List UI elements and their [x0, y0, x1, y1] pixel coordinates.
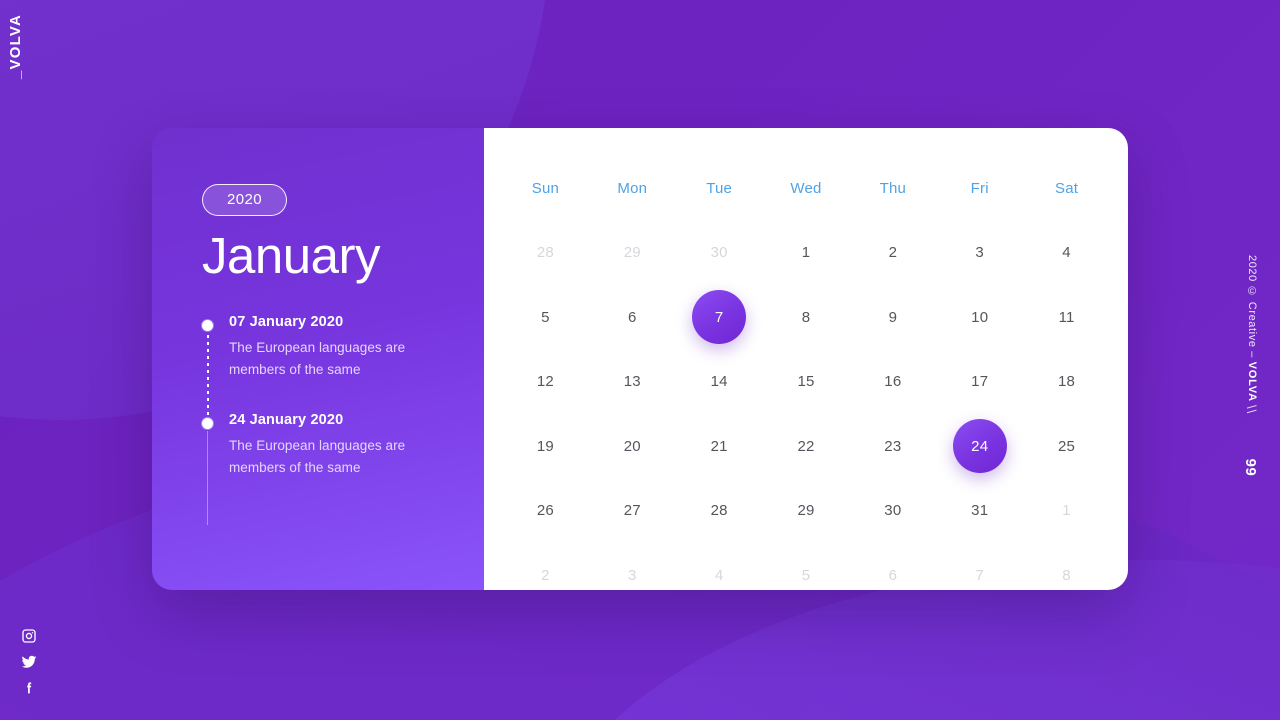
calendar-day[interactable]: 5 — [779, 548, 833, 590]
credit-prefix: 2020 © Creative – — [1246, 255, 1258, 362]
social-links — [21, 628, 37, 696]
month-title: January — [202, 226, 484, 286]
timeline-dot-icon — [202, 320, 213, 331]
calendar-day[interactable]: 28 — [518, 226, 572, 280]
calendar-day[interactable]: 30 — [692, 226, 746, 280]
month-info-panel: 2020 January 07 January 2020The European… — [152, 128, 484, 590]
timeline-rail-solid — [207, 431, 209, 525]
day-of-week-header: Tue — [706, 167, 732, 209]
calendar-day[interactable]: 27 — [605, 484, 659, 538]
calendar-day-selected[interactable]: 24 — [953, 419, 1007, 473]
timeline-entry[interactable]: 24 January 2020The European languages ar… — [229, 412, 484, 479]
calendar-day[interactable]: 28 — [692, 484, 746, 538]
day-of-week-header: Thu — [880, 167, 906, 209]
calendar-day[interactable]: 15 — [779, 355, 833, 409]
calendar-day[interactable]: 4 — [1040, 226, 1094, 280]
calendar-day[interactable]: 8 — [1040, 548, 1094, 590]
calendar-day[interactable]: 3 — [953, 226, 1007, 280]
calendar-day[interactable]: 7 — [953, 548, 1007, 590]
event-timeline: 07 January 2020The European languages ar… — [202, 314, 484, 479]
calendar-day[interactable]: 29 — [605, 226, 659, 280]
day-of-week-header: Fri — [971, 167, 989, 209]
day-of-week-header: Mon — [617, 167, 647, 209]
timeline-rail-dotted — [207, 328, 209, 431]
calendar-panel: SunMonTueWedThuFriSat2829301234567891011… — [484, 128, 1128, 590]
calendar-day[interactable]: 10 — [953, 290, 1007, 344]
calendar-day[interactable]: 26 — [518, 484, 572, 538]
slide-canvas: _VOLVA 2020 © Creative – VOLVA \\ 66 202… — [0, 0, 1280, 720]
calendar-day[interactable]: 6 — [866, 548, 920, 590]
calendar-day[interactable]: 17 — [953, 355, 1007, 409]
page-number: 66 — [1243, 458, 1260, 476]
calendar-day[interactable]: 31 — [953, 484, 1007, 538]
calendar-day[interactable]: 23 — [866, 419, 920, 473]
day-of-week-header: Wed — [790, 167, 821, 209]
day-of-week-header: Sun — [532, 167, 559, 209]
calendar-card: 2020 January 07 January 2020The European… — [152, 128, 1128, 590]
timeline-entry-title: 24 January 2020 — [229, 412, 484, 428]
calendar-day[interactable]: 11 — [1040, 290, 1094, 344]
calendar-day[interactable]: 18 — [1040, 355, 1094, 409]
right-edge-meta: 2020 © Creative – VOLVA \\ 66 — [1228, 0, 1276, 720]
calendar-day[interactable]: 2 — [518, 548, 572, 590]
facebook-icon[interactable] — [21, 680, 37, 696]
timeline-entry[interactable]: 07 January 2020The European languages ar… — [229, 314, 484, 381]
credit-brand: VOLVA — [1246, 362, 1258, 402]
calendar-grid: SunMonTueWedThuFriSat2829301234567891011… — [502, 156, 1110, 590]
calendar-day[interactable]: 1 — [1040, 484, 1094, 538]
calendar-day[interactable]: 1 — [779, 226, 833, 280]
year-badge[interactable]: 2020 — [202, 184, 287, 216]
instagram-icon[interactable] — [21, 628, 37, 644]
timeline-dot-icon — [202, 418, 213, 429]
calendar-day[interactable]: 6 — [605, 290, 659, 344]
calendar-day[interactable]: 12 — [518, 355, 572, 409]
copyright-credit: 2020 © Creative – VOLVA — [1246, 255, 1258, 402]
calendar-day[interactable]: 22 — [779, 419, 833, 473]
slash-separator: \\ — [1244, 405, 1259, 414]
day-of-week-header: Sat — [1055, 167, 1078, 209]
calendar-day[interactable]: 4 — [692, 548, 746, 590]
calendar-day[interactable]: 2 — [866, 226, 920, 280]
timeline-entry-body: The European languages are members of th… — [229, 337, 434, 381]
twitter-icon[interactable] — [21, 654, 37, 670]
calendar-day[interactable]: 14 — [692, 355, 746, 409]
calendar-day[interactable]: 19 — [518, 419, 572, 473]
calendar-day[interactable]: 20 — [605, 419, 659, 473]
calendar-day[interactable]: 21 — [692, 419, 746, 473]
timeline-entry-body: The European languages are members of th… — [229, 435, 434, 479]
calendar-day[interactable]: 3 — [605, 548, 659, 590]
calendar-day[interactable]: 30 — [866, 484, 920, 538]
timeline-entry-title: 07 January 2020 — [229, 314, 484, 330]
calendar-day[interactable]: 16 — [866, 355, 920, 409]
calendar-day[interactable]: 29 — [779, 484, 833, 538]
calendar-day[interactable]: 5 — [518, 290, 572, 344]
calendar-day[interactable]: 25 — [1040, 419, 1094, 473]
calendar-day[interactable]: 8 — [779, 290, 833, 344]
calendar-day-selected[interactable]: 7 — [692, 290, 746, 344]
brand-logo: _VOLVA — [8, 14, 23, 79]
calendar-day[interactable]: 9 — [866, 290, 920, 344]
calendar-day[interactable]: 13 — [605, 355, 659, 409]
